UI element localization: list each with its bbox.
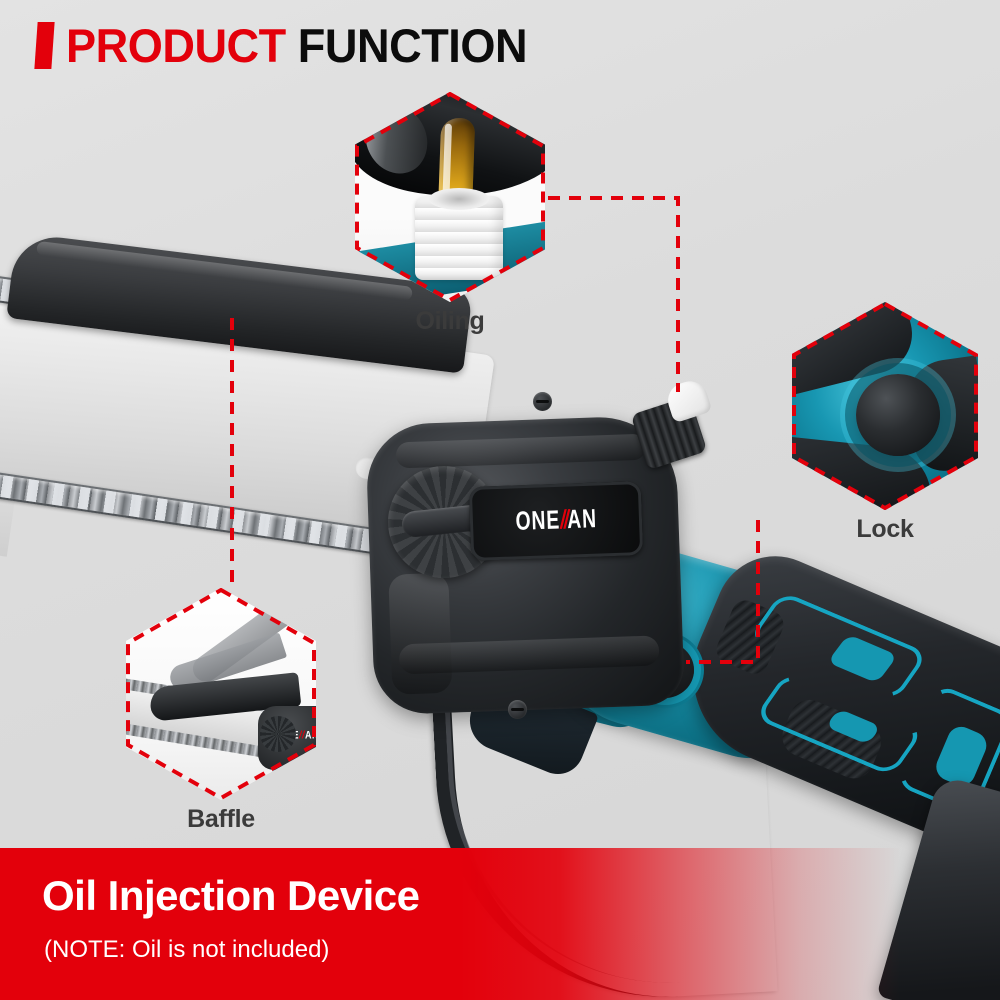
callout-lock-label: Lock bbox=[792, 515, 978, 544]
callout-lock[interactable]: Lock bbox=[792, 302, 978, 544]
housing-screw bbox=[508, 700, 527, 719]
oil-filler-neck-icon bbox=[415, 196, 503, 280]
housing-screw bbox=[533, 392, 552, 411]
grip-teal-outline bbox=[748, 591, 929, 702]
bottom-banner: Oil Injection Device (NOTE: Oil is not i… bbox=[0, 848, 1000, 1000]
red-vertical-bar-icon bbox=[34, 22, 54, 69]
page-title-text: PRODUCT FUNCTION bbox=[66, 22, 527, 69]
page-title-rest: FUNCTION bbox=[298, 19, 527, 72]
callout-baffle-label: Baffle bbox=[126, 805, 316, 834]
callout-oiling-label: Oiling bbox=[355, 307, 545, 336]
page-title-accent: PRODUCT bbox=[66, 19, 286, 72]
callout-lock-image bbox=[792, 302, 978, 510]
callout-baffle[interactable]: ONE//AN Baffle bbox=[126, 588, 316, 834]
brand-logo-text: ONE//AN bbox=[515, 505, 597, 538]
brand-logo-plate: ONE//AN bbox=[469, 481, 643, 561]
mini-tension-knob bbox=[260, 716, 296, 752]
page-title: PRODUCT FUNCTION bbox=[36, 22, 546, 69]
callout-oiling[interactable]: Oiling bbox=[355, 92, 545, 336]
callout-baffle-image: ONE//AN bbox=[126, 588, 316, 800]
banner-note: (NOTE: Oil is not included) bbox=[44, 936, 329, 964]
callout-oiling-image bbox=[355, 92, 545, 302]
banner-title: Oil Injection Device bbox=[42, 872, 419, 920]
infographic-canvas: PRODUCT FUNCTION bbox=[0, 0, 1000, 1000]
lock-button-icon bbox=[856, 374, 940, 456]
